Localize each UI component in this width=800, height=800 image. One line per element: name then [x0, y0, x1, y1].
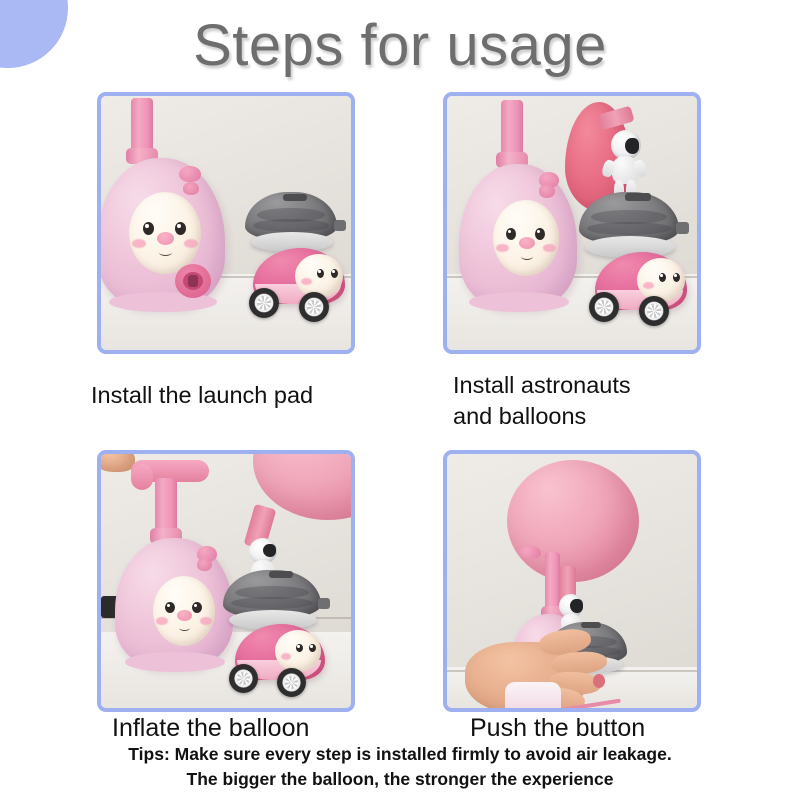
- pump-knob: [519, 546, 541, 559]
- wheel-front: [229, 664, 258, 693]
- car-launcher: [219, 570, 339, 698]
- step-3-image-frame: [97, 450, 355, 712]
- step-1-caption: Install the launch pad: [91, 380, 313, 411]
- step-3-photo: [101, 454, 351, 708]
- pig-face: [493, 200, 559, 276]
- page-title: Steps for usage: [0, 12, 800, 79]
- car-launcher: [237, 192, 349, 320]
- car-pig-face: [637, 258, 685, 302]
- wheel-rear: [299, 292, 329, 322]
- wheel-rear: [639, 296, 669, 326]
- wheel-front: [589, 292, 619, 322]
- pump-base: [505, 682, 561, 708]
- step-2-photo: [447, 96, 697, 350]
- step-3-caption: Inflate the balloon: [112, 712, 309, 745]
- wheel-front: [249, 288, 279, 318]
- step-4-image-frame: [443, 450, 701, 712]
- pump-outlet: [175, 264, 211, 298]
- fingertip: [101, 454, 135, 474]
- step-1-image-frame: [97, 92, 355, 354]
- inflated-balloon: [507, 460, 639, 582]
- car-pig-face: [275, 630, 321, 672]
- step-4-photo: [447, 454, 697, 708]
- pig-face: [153, 576, 215, 646]
- step-1-photo: [101, 96, 351, 350]
- step-2-image-frame: [443, 92, 701, 354]
- step-4-caption: Push the button: [470, 712, 645, 745]
- tips-text: Tips: Make sure every step is installed …: [0, 742, 800, 792]
- car-pig-face: [295, 254, 343, 298]
- step-2-caption: Install astronauts and balloons: [453, 370, 631, 432]
- wheel-rear: [277, 668, 306, 697]
- pig-face: [129, 192, 201, 274]
- car-launcher: [575, 192, 695, 324]
